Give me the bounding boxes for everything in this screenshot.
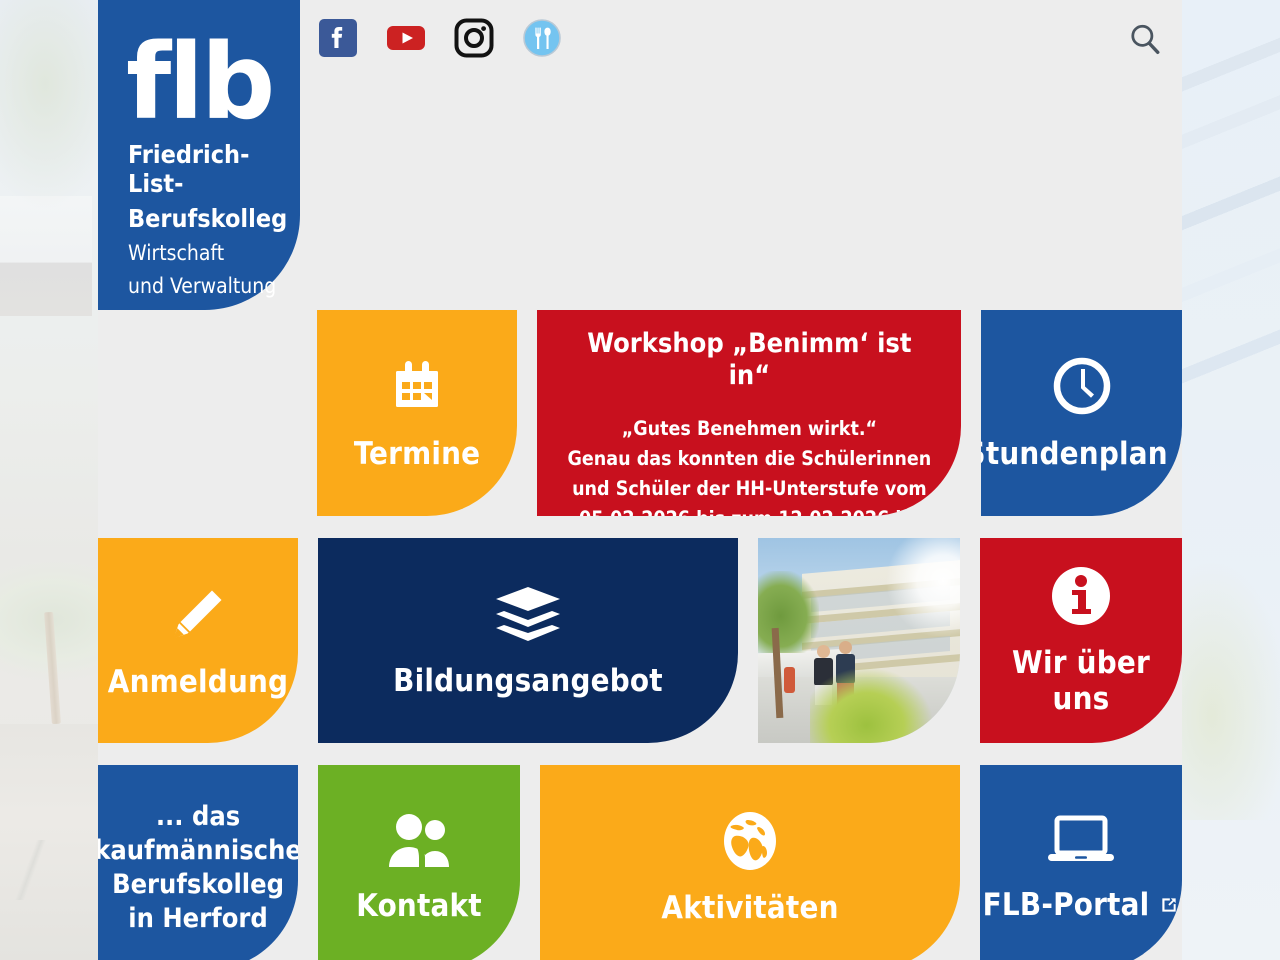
tile-termine-label: Termine xyxy=(354,436,480,472)
external-link-icon xyxy=(1159,895,1179,915)
clock-icon xyxy=(1050,354,1114,418)
tile-stundenplan[interactable]: Stundenplan xyxy=(981,310,1182,516)
tile-bildungsangebot-label: Bildungsangebot xyxy=(393,663,663,699)
tile-claim[interactable]: ... das kaufmännische Berufskolleg in He… xyxy=(98,765,298,960)
logo-subject-line2: und Verwaltung xyxy=(128,274,286,299)
tile-flb-portal-label: FLB-Portal xyxy=(983,887,1180,923)
tile-row-3: ... das kaufmännische Berufskolleg in He… xyxy=(98,765,1182,960)
instagram-icon[interactable] xyxy=(454,18,494,58)
search-button[interactable] xyxy=(1124,18,1166,60)
search-icon xyxy=(1128,22,1162,56)
layers-icon xyxy=(492,583,564,645)
page-container: flb Friedrich-List- Berufskolleg Wirtsch… xyxy=(98,0,1182,960)
site-logo[interactable]: flb Friedrich-List- Berufskolleg Wirtsch… xyxy=(98,0,300,310)
tile-flb-portal-text: FLB-Portal xyxy=(983,887,1150,923)
tile-termine[interactable]: Termine xyxy=(317,310,518,516)
external-link-icon xyxy=(1178,444,1182,464)
tile-bildungsangebot[interactable]: Bildungsangebot xyxy=(318,538,738,743)
logo-school-line2: Berufskolleg xyxy=(128,204,286,233)
site-header: flb Friedrich-List- Berufskolleg Wirtsch… xyxy=(98,0,1182,310)
tile-aktivitaeten[interactable]: Aktivitäten xyxy=(540,765,960,960)
content-panel: flb Friedrich-List- Berufskolleg Wirtsch… xyxy=(98,0,1182,960)
logo-wordmark: flb xyxy=(126,30,286,134)
claim-line4: in Herford xyxy=(128,902,267,936)
tile-aktivitaeten-label: Aktivitäten xyxy=(661,890,838,926)
tile-news[interactable]: Workshop „Benimm‘ ist in“ „Gutes Benehme… xyxy=(537,310,961,516)
logo-subject-line1: Wirtschaft xyxy=(128,241,286,266)
pencil-icon xyxy=(166,582,230,646)
cafeteria-icon[interactable] xyxy=(522,18,562,58)
tile-row-1: Termine Workshop „Benimm‘ ist in“ „Gutes… xyxy=(98,310,1182,538)
tile-stundenplan-text: Stundenplan xyxy=(981,436,1168,472)
logo-school-line1: Friedrich-List- xyxy=(128,140,286,198)
people-icon xyxy=(385,812,453,870)
tile-stundenplan-label: Stundenplan xyxy=(981,436,1182,472)
calendar-icon xyxy=(385,354,449,418)
claim-line1: ... das xyxy=(156,800,240,834)
youtube-icon[interactable] xyxy=(386,18,426,58)
tile-wir-ueber-uns-label: Wir über uns xyxy=(980,645,1182,717)
social-links xyxy=(318,18,562,58)
tile-wir-ueber-uns[interactable]: Wir über uns xyxy=(980,538,1182,743)
claim-line2: kaufmännische xyxy=(98,834,298,868)
news-body: „Gutes Benehmen wirkt.“Genau das konnten… xyxy=(563,414,935,516)
tile-kontakt-label: Kontakt xyxy=(356,888,482,924)
tile-kontakt[interactable]: Kontakt xyxy=(318,765,520,960)
tile-grid: Termine Workshop „Benimm‘ ist in“ „Gutes… xyxy=(98,310,1182,960)
tile-flb-portal[interactable]: FLB-Portal xyxy=(980,765,1182,960)
tile-row-2: Anmeldung Bildungsangebot xyxy=(98,538,1182,765)
laptop-icon xyxy=(1046,813,1116,869)
globe-icon xyxy=(719,810,781,872)
info-icon xyxy=(1050,565,1112,627)
school-photo-tile[interactable] xyxy=(758,538,960,743)
facebook-icon[interactable] xyxy=(318,18,358,58)
claim-line3: Berufskolleg xyxy=(112,868,284,902)
tile-anmeldung[interactable]: Anmeldung xyxy=(98,538,298,743)
tile-anmeldung-label: Anmeldung xyxy=(108,664,288,700)
news-title: Workshop „Benimm‘ ist in“ xyxy=(563,328,935,392)
